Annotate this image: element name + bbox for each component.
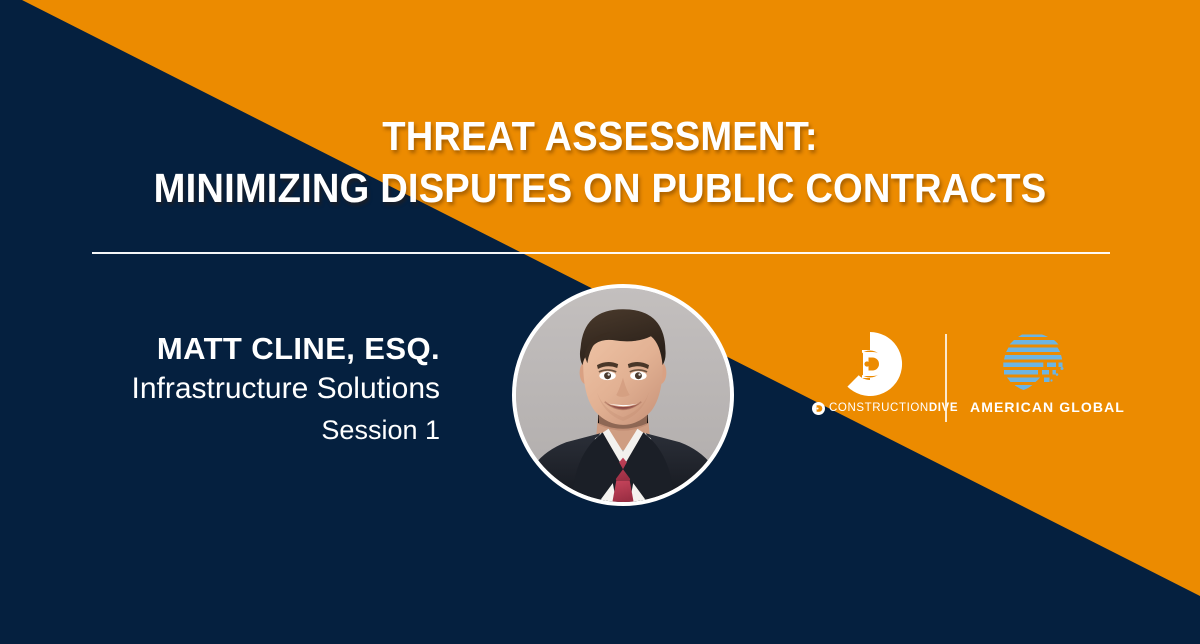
speaker-session: Session 1: [60, 410, 440, 450]
american-global-logo[interactable]: AMERICAN GLOBAL: [970, 330, 1122, 422]
logo-divider: [945, 334, 947, 422]
avatar: [512, 284, 734, 506]
american-global-globe-icon: [1000, 330, 1066, 396]
construction-dive-mark-icon: [836, 330, 904, 398]
speaker-name: MATT CLINE, ESQ.: [60, 330, 440, 368]
construction-dive-logo[interactable]: CONSTRUCTIONDIVE: [812, 330, 940, 422]
page-title: THREAT ASSESSMENT: MINIMIZING DISPUTES O…: [0, 110, 1200, 214]
construction-dive-word-light: CONSTRUCTION: [829, 402, 929, 414]
construction-dive-word-bold: DIVE: [929, 402, 958, 414]
sponsor-logos: CONSTRUCTIONDIVE: [812, 330, 1122, 426]
speaker-portrait-photo: [516, 288, 730, 502]
presentation-slide: THREAT ASSESSMENT: MINIMIZING DISPUTES O…: [0, 0, 1200, 644]
speaker-role: Infrastructure Solutions: [60, 368, 440, 410]
title-line-1: THREAT ASSESSMENT:: [42, 110, 1158, 162]
construction-dive-badge-icon: [812, 402, 825, 415]
american-global-name: AMERICAN GLOBAL: [970, 398, 1122, 416]
title-divider-rule: [92, 252, 1110, 254]
title-line-2: MINIMIZING DISPUTES ON PUBLIC CONTRACTS: [42, 162, 1158, 214]
speaker-info: MATT CLINE, ESQ. Infrastructure Solution…: [60, 330, 440, 450]
construction-dive-wordmark: CONSTRUCTIONDIVE: [812, 400, 940, 416]
